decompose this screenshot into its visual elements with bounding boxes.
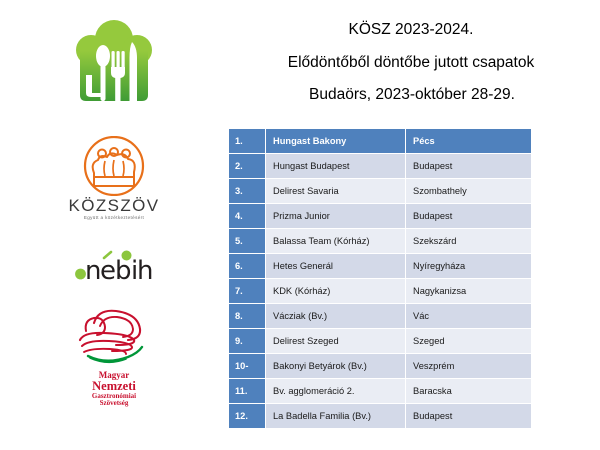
chef-hat-icon [71, 17, 157, 105]
kozszov-logo: KÖZSZÖV Együtt a közétkeztetésért [68, 136, 159, 221]
table-row: 11. Bv. agglomeráció 2. Baracska [229, 379, 532, 404]
mngsz-line-szovetseg: Szövetség [92, 400, 136, 407]
mngsz-wordmark: Magyar Nemzeti Gasztronómiai Szövetség [92, 371, 136, 407]
row-city: Pécs [406, 129, 532, 154]
row-team-name: Balassa Team (Kórház) [266, 229, 406, 254]
teams-table-body: 1. Hungast Bakony Pécs 2. Hungast Budape… [229, 129, 532, 429]
mngsz-emblem-icon [64, 307, 164, 375]
kosz-chef-hat-logo [71, 16, 157, 106]
row-rank: 8. [229, 304, 266, 329]
page-title: KÖSZ 2023-2024. Elődöntőből döntőbe juto… [228, 0, 600, 103]
main-content: KÖSZ 2023-2024. Elődöntőből döntőbe juto… [228, 0, 600, 450]
row-team-name: Bakonyi Betyárok (Bv.) [266, 354, 406, 379]
row-rank: 9. [229, 329, 266, 354]
logo-column: KÖZSZÖV Együtt a közétkeztetésért n e b … [0, 0, 228, 450]
row-city: Vác [406, 304, 532, 329]
table-row: 2. Hungast Budapest Budapest [229, 154, 532, 179]
row-team-name: La Badella Familia (Bv.) [266, 404, 406, 429]
row-team-name: Hungast Budapest [266, 154, 406, 179]
row-team-name: Hungast Bakony [266, 129, 406, 154]
table-row: 10- Bakonyi Betyárok (Bv.) Veszprém [229, 354, 532, 379]
kozszov-tagline: Együtt a közétkeztetésért [84, 216, 144, 221]
qualified-teams-table: 1. Hungast Bakony Pécs 2. Hungast Budape… [228, 128, 532, 429]
svg-text:e: e [100, 256, 116, 283]
row-rank: 5. [229, 229, 266, 254]
row-team-name: Delirest Savaria [266, 179, 406, 204]
row-city: Baracska [406, 379, 532, 404]
row-city: Veszprém [406, 354, 532, 379]
mngsz-line-nemzeti: Nemzeti [92, 380, 136, 393]
row-city: Budapest [406, 404, 532, 429]
row-rank: 10- [229, 354, 266, 379]
row-team-name: KDK (Kórház) [266, 279, 406, 304]
row-city: Szeged [406, 329, 532, 354]
row-city: Nagykanizsa [406, 279, 532, 304]
nebih-wordmark-icon: n e b i h [74, 249, 154, 283]
row-rank: 1. [229, 129, 266, 154]
row-team-name: Vácziak (Bv.) [266, 304, 406, 329]
table-row: 6. Hetes Generál Nyíregyháza [229, 254, 532, 279]
kozszov-wordmark: KÖZSZÖV [68, 197, 159, 214]
magyar-nemzeti-gasztronomiai-szovetseg-logo: Magyar Nemzeti Gasztronómiai Szövetség [64, 307, 164, 407]
svg-text:n: n [85, 256, 101, 283]
row-rank: 12. [229, 404, 266, 429]
row-city: Budapest [406, 204, 532, 229]
row-rank: 4. [229, 204, 266, 229]
row-rank: 11. [229, 379, 266, 404]
kozszov-emblem-icon [81, 136, 147, 196]
nebih-logo: n e b i h [74, 249, 154, 283]
row-city: Szekszárd [406, 229, 532, 254]
row-team-name: Delirest Szeged [266, 329, 406, 354]
svg-text:h: h [137, 256, 153, 283]
row-city: Szombathely [406, 179, 532, 204]
table-row: 5. Balassa Team (Kórház) Szekszárd [229, 229, 532, 254]
table-row: 7. KDK (Kórház) Nagykanizsa [229, 279, 532, 304]
row-team-name: Prizma Junior [266, 204, 406, 229]
title-line-venue-date: Budaörs, 2023-október 28-29. [228, 87, 600, 103]
row-city: Nyíregyháza [406, 254, 532, 279]
table-row: 1. Hungast Bakony Pécs [229, 129, 532, 154]
table-row: 12. La Badella Familia (Bv.) Budapest [229, 404, 532, 429]
row-city: Budapest [406, 154, 532, 179]
title-line-event: KÖSZ 2023-2024. [228, 22, 600, 38]
row-team-name: Hetes Generál [266, 254, 406, 279]
row-rank: 2. [229, 154, 266, 179]
row-rank: 6. [229, 254, 266, 279]
row-team-name: Bv. agglomeráció 2. [266, 379, 406, 404]
table-row: 3. Delirest Savaria Szombathely [229, 179, 532, 204]
row-rank: 3. [229, 179, 266, 204]
row-rank: 7. [229, 279, 266, 304]
table-row: 8. Vácziak (Bv.) Vác [229, 304, 532, 329]
table-row: 4. Prizma Junior Budapest [229, 204, 532, 229]
title-line-subtitle: Elődöntőből döntőbe jutott csapatok [228, 55, 600, 71]
svg-text:b: b [115, 256, 132, 283]
table-row: 9. Delirest Szeged Szeged [229, 329, 532, 354]
